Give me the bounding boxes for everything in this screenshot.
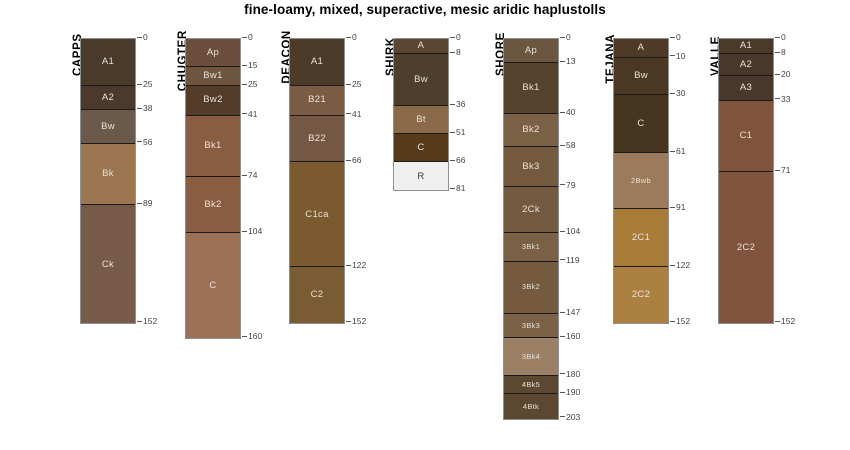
horizon-2c1[interactable]: 2C1 [614,209,668,267]
tick-dash-icon [450,188,455,189]
horizon-label: 2Ck [522,205,540,215]
horizon-4btk[interactable]: 4Btk [504,394,558,418]
horizon-2ck[interactable]: 2Ck [504,187,558,234]
depth-tick-33: 33 [775,95,790,104]
depth-value: 8 [781,47,786,57]
depth-tick-41: 41 [242,110,257,119]
horizon-b22[interactable]: B22 [290,116,344,163]
depth-tick-15: 15 [242,61,257,70]
horizon-label: Bk1 [204,141,221,151]
horizon-label: Ck [102,260,114,270]
depth-value: 10 [676,51,685,61]
horizon-label: 3Bk4 [522,353,540,361]
horizon-bk3[interactable]: Bk3 [504,147,558,186]
depth-tick-0: 0 [346,33,357,42]
depth-tick-152: 152 [137,317,157,326]
horizon-label: Bw [101,122,115,132]
depth-value: 0 [352,32,357,42]
depth-value: 61 [676,146,685,156]
depth-value: 0 [781,32,786,42]
depth-value: 13 [566,56,575,66]
depth-value: 36 [456,99,465,109]
tick-dash-icon [137,84,142,85]
depth-value: 41 [352,109,361,119]
depth-value: 25 [143,79,152,89]
depth-tick-61: 61 [670,147,685,156]
depth-value: 190 [566,387,580,397]
depth-tick-122: 122 [670,261,690,270]
horizon-label: R [417,172,424,182]
tick-dash-icon [560,259,565,260]
horizon-label: Bw1 [203,71,222,81]
horizon-a[interactable]: A [614,39,668,58]
depth-tick-152: 152 [670,317,690,326]
depth-tick-25: 25 [242,80,257,89]
depth-tick-0: 0 [137,33,148,42]
depth-value: 0 [676,32,681,42]
horizon-label: A3 [740,83,752,93]
horizon-label: Bw [634,71,648,81]
depth-value: 74 [248,170,257,180]
depth-tick-13: 13 [560,57,575,66]
soil-profile-chart: fine-loamy, mixed, superactive, mesic ar… [0,0,850,450]
depth-value: 79 [566,180,575,190]
depth-value: 180 [566,369,580,379]
tick-dash-icon [670,93,675,94]
depth-value: 119 [566,255,580,265]
tick-dash-icon [560,184,565,185]
horizon-label: 2Bwb [631,177,651,185]
horizon-label: Bt [416,115,426,125]
horizon-label: Bk3 [522,162,539,172]
depth-tick-20: 20 [775,70,790,79]
depth-tick-91: 91 [670,203,685,212]
horizon-c[interactable]: C [186,233,240,338]
tick-dash-icon [670,265,675,266]
horizon-label: 4Bk5 [522,381,540,389]
tick-dash-icon [137,321,142,322]
horizon-bt[interactable]: Bt [394,106,448,134]
horizon-a2[interactable]: A2 [81,86,135,110]
depth-tick-51: 51 [450,128,465,137]
horizon-2bwb[interactable]: 2Bwb [614,153,668,209]
horizon-label: Bk1 [522,83,539,93]
profile-column: A1A2BwBkCk [80,38,136,324]
depth-value: 122 [676,260,690,270]
tick-dash-icon [775,74,780,75]
tick-dash-icon [560,373,565,374]
depth-tick-30: 30 [670,89,685,98]
depth-value: 104 [566,226,580,236]
depth-value: 104 [248,226,262,236]
tick-dash-icon [670,55,675,56]
horizon-ap[interactable]: Ap [504,39,558,63]
horizon-label: A [418,41,425,51]
depth-tick-66: 66 [450,156,465,165]
tick-dash-icon [670,151,675,152]
horizon-bk1[interactable]: Bk1 [186,116,240,178]
depth-value: 15 [248,60,257,70]
tick-dash-icon [775,37,780,38]
depth-value: 89 [143,198,152,208]
horizon-label: C [209,281,216,291]
horizon-a1[interactable]: A1 [81,39,135,86]
depth-tick-66: 66 [346,156,361,165]
horizon-bw1[interactable]: Bw1 [186,67,240,86]
tick-dash-icon [670,207,675,208]
horizon-label: C1 [740,131,753,141]
depth-tick-0: 0 [670,33,681,42]
horizon-label: A2 [102,93,114,103]
horizon-label: 4Btk [523,403,539,411]
horizon-label: Ap [207,48,219,58]
horizon-label: Bk [102,169,114,179]
horizon-label: C [637,119,644,129]
depth-tick-10: 10 [670,52,685,61]
depth-tick-160: 160 [242,332,262,341]
horizon-c[interactable]: C [394,134,448,162]
depth-value: 56 [143,137,152,147]
tick-dash-icon [346,84,351,85]
horizon-3bk1[interactable]: 3Bk1 [504,233,558,261]
horizon-bw[interactable]: Bw [81,110,135,144]
horizon-3bk3[interactable]: 3Bk3 [504,314,558,338]
tick-dash-icon [346,321,351,322]
tick-dash-icon [346,265,351,266]
depth-value: 152 [781,316,795,326]
horizon-label: B21 [308,95,326,105]
horizon-c2[interactable]: C2 [290,267,344,323]
tick-dash-icon [560,416,565,417]
depth-value: 40 [566,107,575,117]
tick-dash-icon [346,160,351,161]
tick-dash-icon [450,160,455,161]
depth-value: 122 [352,260,366,270]
horizon-bk2[interactable]: Bk2 [186,177,240,233]
depth-value: 0 [566,32,571,42]
tick-dash-icon [775,321,780,322]
depth-tick-71: 71 [775,166,790,175]
depth-value: 0 [456,32,461,42]
depth-value: 8 [456,47,461,57]
profile-column: ApBk1Bk2Bk32Ck3Bk13Bk23Bk33Bk44Bk54Btk [503,38,559,420]
depth-tick-152: 152 [346,317,366,326]
depth-value: 30 [676,88,685,98]
tick-dash-icon [242,37,247,38]
depth-tick-8: 8 [450,48,461,57]
depth-value: 81 [456,183,465,193]
depth-tick-122: 122 [346,261,366,270]
depth-tick-25: 25 [346,80,361,89]
tick-dash-icon [560,231,565,232]
horizon-label: Ap [525,46,537,56]
tick-dash-icon [137,141,142,142]
horizon-c[interactable]: C [614,95,668,153]
horizon-label: A [638,43,645,53]
depth-tick-58: 58 [560,141,575,150]
tick-dash-icon [450,52,455,53]
page-title: fine-loamy, mixed, superactive, mesic ar… [0,2,850,17]
horizon-label: C [417,143,424,153]
horizon-label: 3Bk3 [522,322,540,330]
horizon-label: 3Bk1 [522,243,540,251]
depth-value: 58 [566,140,575,150]
horizon-ap[interactable]: Ap [186,39,240,67]
tick-dash-icon [560,37,565,38]
horizon-bk2[interactable]: Bk2 [504,114,558,148]
horizon-bk1[interactable]: Bk1 [504,63,558,113]
depth-value: 25 [352,79,361,89]
horizon-ck[interactable]: Ck [81,205,135,323]
tick-dash-icon [670,37,675,38]
tick-dash-icon [670,321,675,322]
horizon-a2[interactable]: A2 [719,54,773,76]
depth-value: 160 [566,331,580,341]
horizon-3bk4[interactable]: 3Bk4 [504,338,558,375]
horizon-label: C1ca [305,210,328,220]
horizon-label: A1 [311,57,323,67]
tick-dash-icon [775,170,780,171]
depth-tick-152: 152 [775,317,795,326]
profile-column: A1B21B22C1caC2 [289,38,345,324]
depth-tick-40: 40 [560,108,575,117]
tick-dash-icon [346,113,351,114]
horizon-label: 2C2 [632,290,650,300]
depth-tick-180: 180 [560,370,580,379]
depth-value: 147 [566,307,580,317]
depth-tick-8: 8 [775,48,786,57]
depth-tick-104: 104 [560,227,580,236]
horizon-label: A2 [740,60,752,70]
tick-dash-icon [242,65,247,66]
horizon-3bk2[interactable]: 3Bk2 [504,262,558,314]
horizon-label: A1 [740,41,752,51]
tick-dash-icon [560,336,565,337]
horizon-2c2[interactable]: 2C2 [719,172,773,323]
tick-dash-icon [242,336,247,337]
tick-dash-icon [560,392,565,393]
horizon-4bk5[interactable]: 4Bk5 [504,376,558,395]
depth-value: 38 [143,103,152,113]
tick-dash-icon [560,145,565,146]
depth-tick-0: 0 [775,33,786,42]
depth-value: 41 [248,109,257,119]
depth-value: 71 [781,165,790,175]
depth-value: 66 [456,155,465,165]
depth-value: 160 [248,331,262,341]
depth-value: 51 [456,127,465,137]
tick-dash-icon [450,104,455,105]
depth-tick-81: 81 [450,184,465,193]
depth-value: 203 [566,412,580,422]
tick-dash-icon [560,61,565,62]
depth-value: 33 [781,94,790,104]
tick-dash-icon [137,37,142,38]
depth-tick-0: 0 [242,33,253,42]
depth-value: 25 [248,79,257,89]
profile-column: ABwBtCR [393,38,449,191]
depth-tick-203: 203 [560,413,580,422]
depth-tick-36: 36 [450,100,465,109]
depth-tick-147: 147 [560,308,580,317]
horizon-label: B22 [308,134,326,144]
depth-tick-79: 79 [560,181,575,190]
tick-dash-icon [137,108,142,109]
tick-dash-icon [346,37,351,38]
depth-tick-56: 56 [137,138,152,147]
tick-dash-icon [775,52,780,53]
horizon-label: Bk2 [522,125,539,135]
horizon-bk[interactable]: Bk [81,144,135,206]
depth-tick-25: 25 [137,80,152,89]
depth-tick-160: 160 [560,332,580,341]
depth-tick-0: 0 [560,33,571,42]
depth-tick-190: 190 [560,388,580,397]
depth-value: 152 [143,316,157,326]
depth-tick-74: 74 [242,171,257,180]
horizon-a1[interactable]: A1 [719,39,773,54]
horizon-a3[interactable]: A3 [719,76,773,100]
depth-tick-0: 0 [450,33,461,42]
profile-column: A1A2A3C12C2 [718,38,774,324]
depth-tick-41: 41 [346,110,361,119]
tick-dash-icon [242,84,247,85]
depth-value: 91 [676,202,685,212]
tick-dash-icon [242,113,247,114]
tick-dash-icon [242,231,247,232]
horizon-bw[interactable]: Bw [614,58,668,95]
tick-dash-icon [560,312,565,313]
horizon-label: 2C1 [632,233,650,243]
depth-tick-119: 119 [560,256,580,265]
horizon-label: Bk2 [204,200,221,210]
horizon-label: 3Bk2 [522,283,540,291]
depth-value: 20 [781,69,790,79]
horizon-a1[interactable]: A1 [290,39,344,86]
horizon-c1ca[interactable]: C1ca [290,162,344,267]
horizon-bw[interactable]: Bw [394,54,448,106]
tick-dash-icon [775,98,780,99]
horizon-label: A1 [102,57,114,67]
horizon-label: Bw [414,75,428,85]
horizon-a[interactable]: A [394,39,448,54]
horizon-2c2[interactable]: 2C2 [614,267,668,323]
horizon-b21[interactable]: B21 [290,86,344,116]
profile-column: ApBw1Bw2Bk1Bk2C [185,38,241,339]
tick-dash-icon [242,175,247,176]
depth-value: 0 [248,32,253,42]
tick-dash-icon [450,37,455,38]
tick-dash-icon [137,203,142,204]
horizon-label: Bw2 [203,95,222,105]
horizon-bw2[interactable]: Bw2 [186,86,240,116]
horizon-c1[interactable]: C1 [719,101,773,172]
depth-value: 0 [143,32,148,42]
profile-column: ABwC2Bwb2C12C2 [613,38,669,324]
depth-tick-104: 104 [242,227,262,236]
horizon-label: 2C2 [737,243,755,253]
tick-dash-icon [450,132,455,133]
depth-tick-38: 38 [137,104,152,113]
depth-tick-89: 89 [137,199,152,208]
horizon-label: C2 [311,290,324,300]
horizon-r[interactable]: R [394,162,448,190]
depth-value: 152 [352,316,366,326]
depth-value: 152 [676,316,690,326]
depth-value: 66 [352,155,361,165]
tick-dash-icon [560,112,565,113]
